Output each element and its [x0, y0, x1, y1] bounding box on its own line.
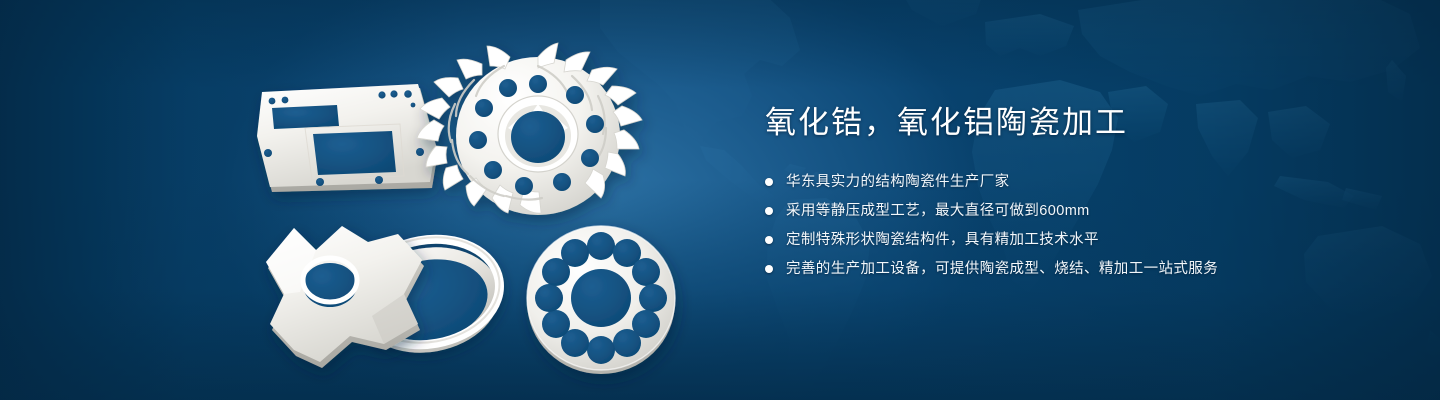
ceramic-impeller [417, 43, 642, 215]
bullet-dot-icon [765, 207, 773, 215]
ceramic-perforated-disc [527, 226, 675, 374]
page-title: 氧化锆，氧化铝陶瓷加工 [765, 104, 1365, 143]
ceramic-products-group [0, 0, 760, 400]
bullet-dot-icon [765, 178, 773, 186]
feature-text: 定制特殊形状陶瓷结构件，具有精加工技术水平 [786, 229, 1099, 251]
feature-list: 华东具实力的结构陶瓷件生产厂家 采用等静压成型工艺，最大直径可做到600mm 定… [765, 171, 1365, 280]
hero-banner: 氧化锆，氧化铝陶瓷加工 华东具实力的结构陶瓷件生产厂家 采用等静压成型工艺，最大… [0, 0, 1440, 400]
banner-copy: 氧化锆，氧化铝陶瓷加工 华东具实力的结构陶瓷件生产厂家 采用等静压成型工艺，最大… [765, 104, 1365, 287]
feature-text: 华东具实力的结构陶瓷件生产厂家 [786, 171, 1010, 193]
bullet-dot-icon [765, 265, 773, 273]
list-item: 采用等静压成型工艺，最大直径可做到600mm [765, 200, 1365, 222]
list-item: 定制特殊形状陶瓷结构件，具有精加工技术水平 [765, 229, 1365, 251]
bullet-dot-icon [765, 236, 773, 244]
list-item: 完善的生产加工设备，可提供陶瓷成型、烧结、精加工一站式服务 [765, 258, 1365, 280]
feature-text: 采用等静压成型工艺，最大直径可做到600mm [786, 200, 1090, 222]
feature-text: 完善的生产加工设备，可提供陶瓷成型、烧结、精加工一站式服务 [786, 258, 1218, 280]
ceramic-mounting-plate [257, 84, 438, 192]
list-item: 华东具实力的结构陶瓷件生产厂家 [765, 171, 1365, 193]
